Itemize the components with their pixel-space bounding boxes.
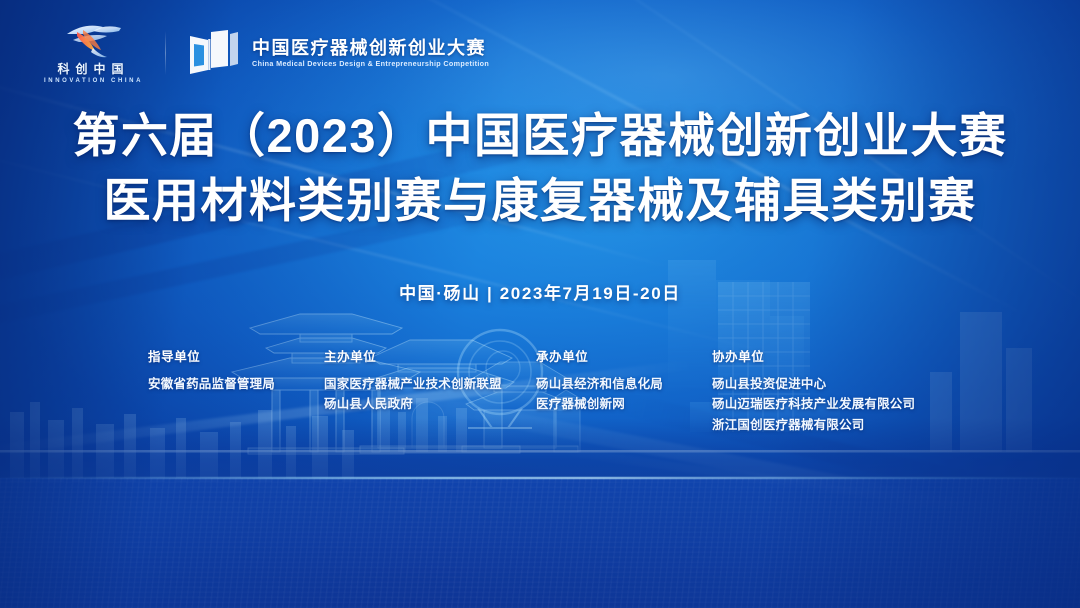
org-heading: 协办单位 bbox=[712, 346, 915, 365]
org-item: 砀山县经济和信息化局 bbox=[536, 374, 712, 394]
phoenix-bird-icon bbox=[63, 22, 125, 60]
competition-logo-cn: 中国医疗器械创新创业大赛 bbox=[252, 39, 489, 57]
competition-logo-en: China Medical Devices Design & Entrepren… bbox=[252, 60, 489, 67]
org-heading: 主办单位 bbox=[324, 346, 536, 365]
org-item: 砀山县人民政府 bbox=[324, 394, 536, 414]
innovation-china-logo: 科创中国 INNOVATION CHINA bbox=[44, 22, 143, 84]
competition-logo: 中国医疗器械创新创业大赛 China Medical Devices Desig… bbox=[188, 30, 489, 76]
background-vignette bbox=[0, 0, 1080, 608]
org-heading: 指导单位 bbox=[148, 346, 324, 365]
logo-divider bbox=[165, 31, 166, 75]
open-door-mark-icon bbox=[188, 30, 240, 76]
event-poster: 科创中国 INNOVATION CHINA 中国医疗器械创新创业大赛 China… bbox=[0, 0, 1080, 608]
innovation-china-en: INNOVATION CHINA bbox=[44, 78, 143, 84]
org-column-organizer: 承办单位 砀山县经济和信息化局 医疗器械创新网 bbox=[536, 346, 712, 415]
logo-bar: 科创中国 INNOVATION CHINA 中国医疗器械创新创业大赛 China… bbox=[44, 22, 489, 84]
organizations-row: 指导单位 安徽省药品监督管理局 主办单位 国家医疗器械产业技术创新联盟 砀山县人… bbox=[148, 346, 988, 435]
org-item: 安徽省药品监督管理局 bbox=[148, 374, 324, 394]
org-item: 医疗器械创新网 bbox=[536, 394, 712, 414]
title-line-1: 第六届（2023）中国医疗器械创新创业大赛 bbox=[0, 104, 1080, 169]
event-location-date: 中国·砀山 | 2023年7月19日-20日 bbox=[0, 279, 1080, 304]
org-item: 国家医疗器械产业技术创新联盟 bbox=[324, 374, 536, 394]
org-column-guidance: 指导单位 安徽省药品监督管理局 bbox=[148, 346, 324, 394]
org-item: 砀山县投资促进中心 bbox=[712, 374, 915, 394]
competition-logo-text: 中国医疗器械创新创业大赛 China Medical Devices Desig… bbox=[252, 39, 489, 67]
page-title: 第六届（2023）中国医疗器械创新创业大赛 医用材料类别赛与康复器械及辅具类别赛 bbox=[0, 104, 1080, 234]
org-heading: 承办单位 bbox=[536, 346, 712, 365]
org-column-coorganizer: 协办单位 砀山县投资促进中心 砀山迈瑞医疗科技产业发展有限公司 浙江国创医疗器械… bbox=[712, 346, 915, 435]
innovation-china-cn: 科创中国 bbox=[58, 63, 130, 75]
title-line-2: 医用材料类别赛与康复器械及辅具类别赛 bbox=[0, 169, 1080, 234]
org-column-host: 主办单位 国家医疗器械产业技术创新联盟 砀山县人民政府 bbox=[324, 346, 536, 415]
org-item: 砀山迈瑞医疗科技产业发展有限公司 bbox=[712, 394, 915, 414]
org-item: 浙江国创医疗器械有限公司 bbox=[712, 415, 915, 435]
